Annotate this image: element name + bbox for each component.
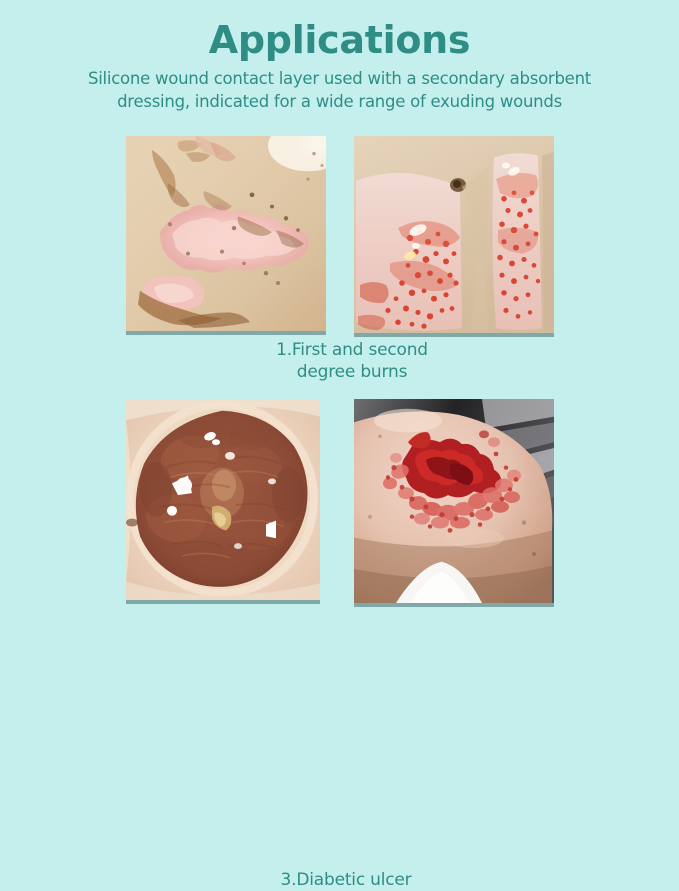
gallery-item-2: 2.Donor site [354, 136, 554, 337]
applications-infographic: Applications Silicone wound contact laye… [0, 0, 679, 679]
gallery-caption-3: 3.Diabetic ulcer [216, 869, 476, 891]
header: Applications Silicone wound contact laye… [0, 18, 679, 113]
burn-wound-photo [126, 136, 326, 335]
diabetic-ulcer-photo [126, 399, 320, 604]
gallery-item-1: 1.First and second degree burns [126, 136, 326, 335]
page-subtitle: Silicone wound contact layer used with a… [60, 68, 620, 113]
gallery-item-4: 4.Pressure ulcer [354, 399, 554, 607]
donor-site-photo [354, 136, 554, 337]
gallery-item-3: 3.Diabetic ulcer [126, 399, 320, 604]
page-title: Applications [0, 18, 679, 62]
applications-gallery: 1.First and second degree burns [0, 136, 679, 656]
gallery-caption-1: 1.First and second degree burns [222, 339, 482, 383]
pressure-ulcer-photo [354, 399, 554, 607]
